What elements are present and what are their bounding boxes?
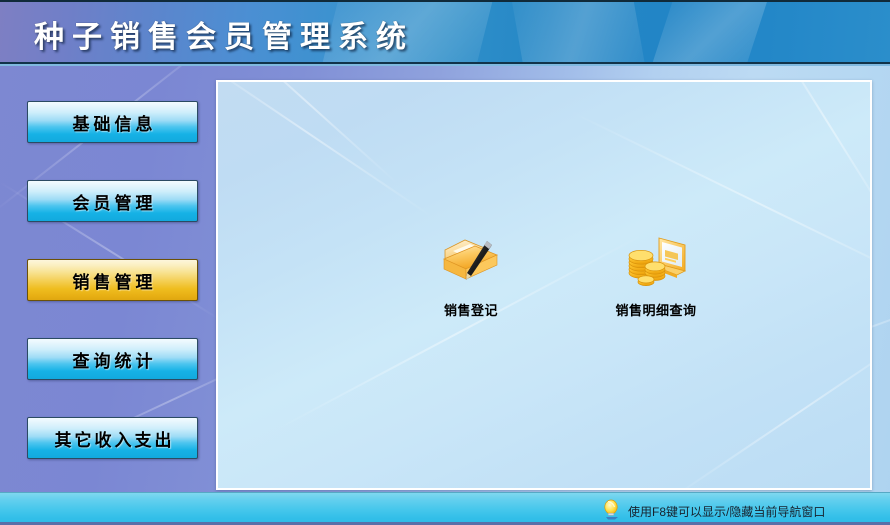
sidebar-item-basic-info[interactable]: 基础信息	[27, 101, 198, 143]
header-sheen	[505, 0, 654, 62]
sidebar-item-label: 查询统计	[69, 347, 157, 372]
sidebar-item-label: 基础信息	[69, 110, 157, 135]
sidebar-item-label: 销售管理	[69, 268, 157, 293]
status-hint: 使用F8键可以显示/隐藏当前导航窗口	[602, 498, 825, 525]
sidebar-item-member-management[interactable]: 会员管理	[27, 180, 198, 222]
shortcut-label: 销售明细查询	[586, 300, 726, 319]
panel-streak	[758, 80, 872, 234]
sidebar-item-other-income-expense[interactable]: 其它收入支出	[27, 417, 198, 459]
status-bar: 使用F8键可以显示/隐藏当前导航窗口	[0, 492, 890, 525]
page-title: 种子销售会员管理系统	[34, 12, 414, 56]
panel-streak	[216, 80, 433, 218]
application-window: 种子销售会员管理系统 基础信息 会员管理 销售管理 查询统计 其它收入支出	[0, 0, 890, 525]
shortcut-label: 销售登记	[401, 300, 541, 319]
sidebar-item-sales-management[interactable]: 销售管理	[27, 259, 198, 301]
panel-streak	[665, 323, 872, 490]
panel-streak	[218, 80, 398, 184]
lightbulb-icon	[602, 498, 622, 525]
shortcut-sales-detail-query[interactable]: 销售明细查询	[586, 230, 726, 319]
content-panel: 销售登记	[216, 80, 872, 490]
coins-with-document-icon	[586, 230, 726, 292]
sidebar-item-query-statistics[interactable]: 查询统计	[27, 338, 198, 380]
title-bar: 种子销售会员管理系统	[0, 0, 890, 62]
header-sheen	[639, 0, 771, 62]
shortcut-sales-registration[interactable]: 销售登记	[401, 230, 541, 319]
sidebar-item-label: 其它收入支出	[51, 426, 175, 451]
folder-with-pen-icon	[401, 230, 541, 292]
navigation-sidebar: 基础信息 会员管理 销售管理 查询统计 其它收入支出	[0, 66, 214, 525]
sidebar-item-label: 会员管理	[69, 189, 157, 214]
status-hint-text: 使用F8键可以显示/隐藏当前导航窗口	[628, 503, 825, 520]
